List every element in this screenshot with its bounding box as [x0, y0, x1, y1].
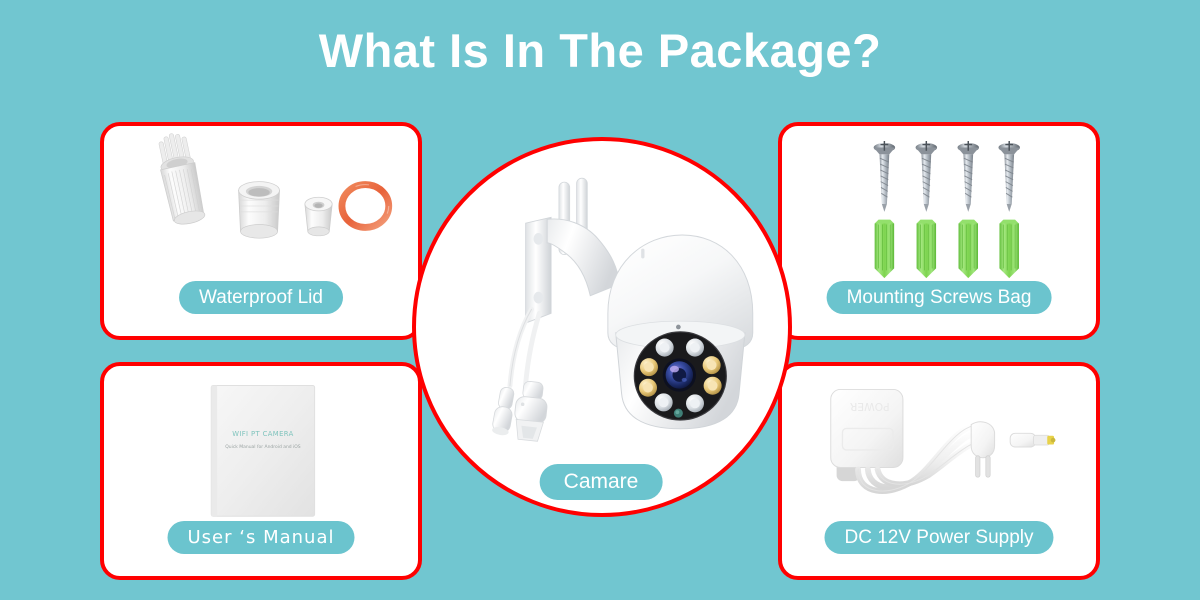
panel-label-power-supply: DC 12V Power Supply [824, 521, 1053, 554]
power-supply-illustration: POWER [782, 366, 1096, 526]
panel-waterproof-lid: Waterproof Lid [100, 122, 422, 340]
manual-cover-title: WIFI PT CAMERA [232, 430, 293, 438]
center-label-camera: Camare [540, 464, 663, 500]
panel-power-supply: POWER [778, 362, 1100, 580]
infographic-canvas: What Is In The Package? [0, 0, 1200, 600]
mounting-screws-illustration [782, 126, 1096, 286]
panel-label-users-manual: User ‘s Manual [168, 521, 355, 554]
adapter-embossed-text: POWER [849, 400, 889, 413]
panel-label-mounting-screws-bag: Mounting Screws Bag [827, 281, 1052, 314]
user-manual-illustration: WIFI PT CAMERA Quick Manual for Android … [104, 366, 418, 526]
waterproof-lid-illustration [104, 126, 418, 286]
page-title: What Is In The Package? [0, 20, 1200, 82]
camera-illustration [416, 141, 788, 513]
panel-users-manual: WIFI PT CAMERA Quick Manual for Android … [100, 362, 422, 580]
panel-label-waterproof-lid: Waterproof Lid [179, 281, 343, 314]
manual-cover-subtitle: Quick Manual for Android and iOS [225, 444, 301, 450]
center-circle-camera [412, 137, 792, 517]
panel-mounting-screws-bag: Mounting Screws Bag [778, 122, 1100, 340]
